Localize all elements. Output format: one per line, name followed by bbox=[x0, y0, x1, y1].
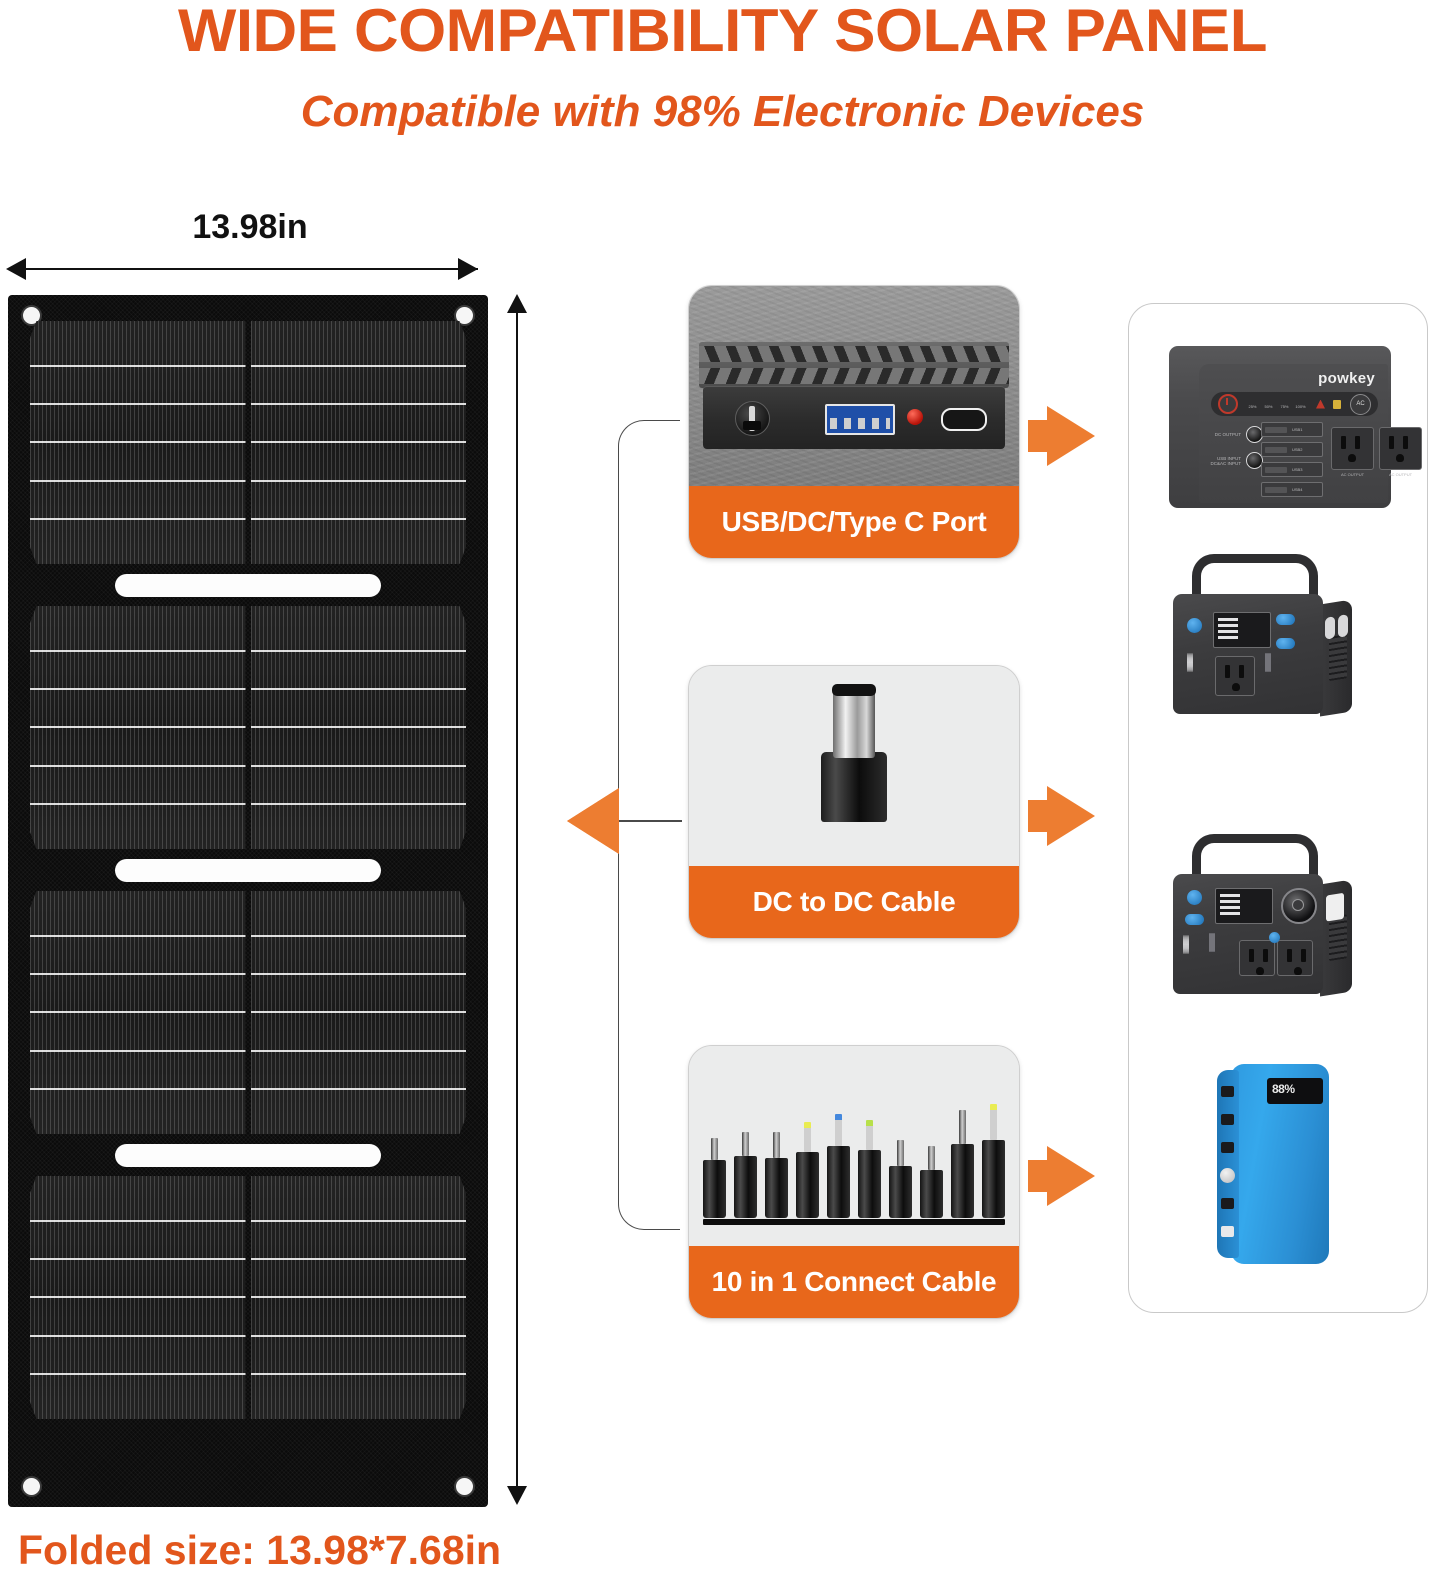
page-subtitle: Compatible with 98% Electronic Devices bbox=[0, 88, 1445, 136]
usb-port-icon: USB2 bbox=[1261, 442, 1323, 457]
adapter-tip bbox=[734, 1132, 757, 1218]
adapter-tip-body bbox=[982, 1140, 1005, 1218]
barrel-base bbox=[821, 752, 887, 822]
folded-size-label: Folded size: 13.98*7.68in bbox=[18, 1527, 501, 1574]
usb-port-icon: USB1 bbox=[1261, 422, 1323, 437]
solar-cell bbox=[251, 891, 467, 1134]
adapter-tip-body bbox=[827, 1146, 850, 1218]
port-photo bbox=[689, 286, 1019, 486]
busbar bbox=[251, 1220, 467, 1222]
handle-slot-wrap bbox=[30, 849, 466, 891]
device-side bbox=[1320, 599, 1352, 716]
solar-cell bbox=[30, 606, 246, 849]
solar-cell bbox=[30, 321, 246, 564]
adapter-tip-body bbox=[951, 1144, 974, 1218]
busbar bbox=[251, 803, 467, 805]
battery-percent-label: 75% bbox=[1280, 404, 1288, 409]
card-dc-to-dc[interactable]: DC to DC Cable bbox=[688, 665, 1020, 939]
usb-port-block bbox=[1209, 934, 1233, 952]
adapter-tip-base bbox=[703, 1219, 1005, 1225]
battery-level-indicators: 25%50%75%100% bbox=[1247, 395, 1306, 413]
busbar-group bbox=[251, 321, 467, 564]
solar-panel-zone: 13.98in 30.71in Folded size: 13.98*7.68i… bbox=[0, 190, 600, 1350]
busbar bbox=[251, 1373, 467, 1375]
handle-slot-wrap bbox=[30, 1134, 466, 1176]
usb-port-icon: USB3 bbox=[1261, 462, 1323, 477]
card-label: DC to DC Cable bbox=[689, 866, 1019, 938]
adapter-tip bbox=[827, 1114, 850, 1218]
adapter-tip-pin bbox=[711, 1138, 718, 1160]
solar-cell bbox=[251, 321, 467, 564]
busbar bbox=[251, 1050, 467, 1052]
adapter-tip bbox=[951, 1110, 974, 1218]
arrow-right-tail bbox=[1028, 420, 1048, 452]
lcd-display bbox=[1215, 888, 1273, 924]
blue-button-icon[interactable] bbox=[1187, 890, 1202, 905]
outlet-label: AC OUTPUT bbox=[1380, 472, 1421, 477]
adapter-tip-pin bbox=[928, 1146, 935, 1170]
device-power-station-flat: powkey 25%50%75%100% AC DC OUTPUT USB IN… bbox=[1169, 346, 1391, 508]
brand-logo: powkey bbox=[1318, 370, 1375, 387]
ac-outlet-icon: AC OUTPUT bbox=[1379, 427, 1422, 470]
solar-cell bbox=[251, 1176, 467, 1419]
dc-jack-column bbox=[1183, 936, 1203, 954]
adapter-tip-body bbox=[765, 1158, 788, 1218]
width-dimension-line bbox=[12, 268, 478, 270]
busbar-group bbox=[30, 891, 246, 1134]
busbar bbox=[251, 726, 467, 728]
usb-pad bbox=[1265, 467, 1287, 473]
battery-percent-label: 100% bbox=[1295, 404, 1305, 409]
device-power-station-small bbox=[1165, 554, 1365, 724]
ac-outlet-icon: AC OUTPUT bbox=[1331, 427, 1374, 470]
port-housing bbox=[703, 386, 1005, 449]
adapter-tip-pin bbox=[742, 1132, 749, 1156]
feature-cards: USB/DC/Type C Port DC to DC Cable 10 in … bbox=[670, 285, 1030, 1345]
power-bank-side bbox=[1217, 1070, 1239, 1258]
led-light-icon bbox=[1221, 1226, 1234, 1237]
handle-slot bbox=[115, 1144, 381, 1167]
adapter-tip-pin bbox=[990, 1104, 997, 1140]
panel-texture bbox=[699, 342, 1009, 388]
usb-label: USB2 bbox=[1292, 447, 1302, 452]
busbar bbox=[30, 1296, 246, 1298]
device-front bbox=[1173, 594, 1323, 714]
solar-cell bbox=[251, 606, 467, 849]
usb-port-icon bbox=[1269, 653, 1271, 672]
ac-outlet-icon bbox=[1239, 940, 1275, 976]
adapter-tip-body bbox=[889, 1166, 912, 1218]
blue-button-icon[interactable] bbox=[1276, 614, 1295, 625]
adapter-tip bbox=[858, 1120, 881, 1218]
ac-outlet-icon bbox=[1277, 940, 1313, 976]
usb-label: USB1 bbox=[1292, 427, 1302, 432]
adapter-tip-body bbox=[858, 1150, 881, 1218]
busbar bbox=[30, 726, 246, 728]
adapter-tip-body bbox=[734, 1156, 757, 1218]
busbar bbox=[251, 765, 467, 767]
side-port-icon bbox=[1326, 893, 1344, 922]
usb-port-icon: USB4 bbox=[1261, 482, 1323, 497]
busbar-group bbox=[251, 606, 467, 849]
busbar bbox=[30, 1088, 246, 1090]
busbar-group bbox=[30, 606, 246, 849]
busbar bbox=[251, 365, 467, 367]
arrow-right-icon bbox=[1047, 406, 1095, 466]
busbar-group bbox=[30, 1176, 246, 1419]
arrow-down-icon bbox=[507, 1486, 527, 1505]
busbar bbox=[30, 518, 246, 520]
busbar bbox=[30, 441, 246, 443]
busbar bbox=[30, 973, 246, 975]
io-label: USB INPUT DC&AC INPUT bbox=[1207, 456, 1241, 466]
ac-outlet-icon bbox=[1215, 656, 1255, 696]
dc-jack-icon bbox=[1187, 935, 1189, 954]
solar-cell-row bbox=[30, 1176, 466, 1419]
handle-slot bbox=[115, 574, 381, 597]
busbar bbox=[251, 518, 467, 520]
busbar bbox=[251, 1296, 467, 1298]
busbar bbox=[251, 1088, 467, 1090]
adapter-tip-pin bbox=[959, 1110, 966, 1144]
led-indicator-icon bbox=[907, 409, 923, 425]
grommet-icon bbox=[21, 1476, 42, 1497]
blue-button-icon[interactable] bbox=[1185, 914, 1204, 925]
usb-label: USB3 bbox=[1292, 467, 1302, 472]
lcd-display bbox=[1213, 612, 1271, 648]
adapter-tip bbox=[765, 1132, 788, 1218]
device-power-station-large bbox=[1165, 834, 1375, 1004]
solar-panel bbox=[8, 295, 488, 1507]
device-face: powkey 25%50%75%100% AC DC OUTPUT USB IN… bbox=[1199, 364, 1388, 503]
busbar bbox=[30, 1011, 246, 1013]
busbar bbox=[30, 688, 246, 690]
adapter-tip bbox=[703, 1138, 726, 1218]
busbar bbox=[251, 935, 467, 937]
usb-pad bbox=[1265, 427, 1287, 433]
adapter-tips-photo bbox=[689, 1046, 1019, 1246]
device-front bbox=[1173, 874, 1323, 994]
usb-label: USB4 bbox=[1292, 487, 1302, 492]
adapter-tip-body bbox=[920, 1170, 943, 1218]
arrow-right-icon bbox=[458, 258, 478, 280]
page-title: WIDE COMPATIBILITY SOLAR PANEL bbox=[0, 0, 1445, 62]
lcd-segment bbox=[1220, 894, 1240, 916]
warning-icon bbox=[1316, 400, 1325, 409]
adapter-tip bbox=[796, 1122, 819, 1218]
adapter-tip-body bbox=[796, 1152, 819, 1218]
busbar bbox=[30, 1373, 246, 1375]
battery-level: 75% bbox=[1279, 395, 1290, 413]
usb-pad bbox=[1265, 487, 1287, 493]
busbar-group bbox=[251, 891, 467, 1134]
card-label: 10 in 1 Connect Cable bbox=[689, 1246, 1019, 1318]
device-side bbox=[1320, 879, 1352, 996]
adapter-tip-row bbox=[703, 1098, 1005, 1218]
solar-cell-row bbox=[30, 891, 466, 1134]
solar-cell bbox=[30, 1176, 246, 1419]
battery-level: 50% bbox=[1263, 395, 1274, 413]
arrow-right-tail bbox=[1028, 800, 1048, 832]
busbar bbox=[30, 803, 246, 805]
adapter-tip bbox=[920, 1146, 943, 1218]
arrow-right-icon bbox=[1047, 786, 1095, 846]
solar-cell bbox=[30, 891, 246, 1134]
busbar bbox=[251, 973, 467, 975]
busbar-group bbox=[30, 321, 246, 564]
type-c-port-icon bbox=[941, 408, 987, 431]
handle-slot bbox=[115, 859, 381, 882]
lcd-segment bbox=[1218, 618, 1238, 640]
barrel-tip bbox=[832, 684, 876, 696]
dc-port-icon bbox=[1221, 1142, 1234, 1153]
side-port-icon bbox=[1325, 616, 1335, 640]
blue-button-icon[interactable] bbox=[1269, 932, 1280, 943]
panel-width-label: 13.98in bbox=[100, 208, 400, 247]
busbar bbox=[251, 441, 467, 443]
outlet-label: AC OUTPUT bbox=[1332, 472, 1373, 477]
barrel-shaft bbox=[833, 688, 875, 758]
adapter-tip-pin bbox=[866, 1120, 873, 1150]
card-label: USB/DC/Type C Port bbox=[689, 486, 1019, 558]
busbar bbox=[30, 650, 246, 652]
busbar bbox=[251, 1335, 467, 1337]
power-bank-body: 88% bbox=[1231, 1064, 1329, 1264]
arrow-up-icon bbox=[507, 294, 527, 313]
handle-slot-wrap bbox=[30, 564, 466, 606]
dc-cable-photo bbox=[689, 666, 1019, 866]
usb-port-icon bbox=[1221, 1114, 1234, 1125]
blue-button-icon[interactable] bbox=[1187, 618, 1202, 633]
battery-level: 100% bbox=[1295, 395, 1306, 413]
side-port-icon bbox=[1338, 614, 1348, 638]
busbar bbox=[251, 403, 467, 405]
card-ten-in-one[interactable]: 10 in 1 Connect Cable bbox=[688, 1045, 1020, 1319]
busbar bbox=[30, 935, 246, 937]
vent-icon bbox=[1329, 634, 1347, 681]
usb-a-port-icon bbox=[825, 404, 895, 435]
arrow-right-tail bbox=[1028, 1160, 1048, 1192]
card-usb-dc-typec[interactable]: USB/DC/Type C Port bbox=[688, 285, 1020, 559]
io-label: DC OUTPUT bbox=[1207, 432, 1241, 437]
power-bank-display: 88% bbox=[1267, 1078, 1323, 1104]
busbar bbox=[30, 1220, 246, 1222]
busbar-group bbox=[251, 1176, 467, 1419]
dc-jack-icon bbox=[1191, 653, 1193, 672]
compatible-devices-panel: powkey 25%50%75%100% AC DC OUTPUT USB IN… bbox=[1128, 303, 1428, 1313]
busbar bbox=[30, 1335, 246, 1337]
usb-pad bbox=[1265, 447, 1287, 453]
usb-port-icon bbox=[1213, 933, 1215, 952]
blue-button-icon[interactable] bbox=[1276, 638, 1295, 649]
busbar bbox=[30, 365, 246, 367]
busbar bbox=[30, 403, 246, 405]
busbar bbox=[251, 688, 467, 690]
adapter-tip-pin bbox=[804, 1122, 811, 1152]
dc-jack-column bbox=[1187, 654, 1207, 672]
battery-level: 25% bbox=[1247, 395, 1258, 413]
adapter-tip-pin bbox=[773, 1132, 780, 1158]
solar-cell-row bbox=[30, 321, 466, 564]
arrow-right-icon bbox=[1047, 1146, 1095, 1206]
busbar bbox=[30, 480, 246, 482]
header: WIDE COMPATIBILITY SOLAR PANEL Compatibl… bbox=[0, 0, 1445, 160]
adapter-tip-pin bbox=[897, 1140, 904, 1166]
control-strip: 25%50%75%100% AC bbox=[1211, 392, 1378, 416]
charge-percent: 88% bbox=[1272, 1083, 1295, 1096]
adapter-tip-body bbox=[703, 1160, 726, 1218]
busbar bbox=[30, 765, 246, 767]
adapter-tip bbox=[889, 1140, 912, 1218]
usb-port-stack: USB1USB2USB3USB4 bbox=[1261, 422, 1323, 502]
vent-icon bbox=[1329, 914, 1347, 961]
power-button-icon[interactable] bbox=[1218, 394, 1238, 414]
ac-button[interactable]: AC bbox=[1350, 394, 1371, 415]
round-dc-input-icon bbox=[1281, 888, 1317, 924]
usb-port-icon bbox=[1221, 1198, 1234, 1209]
adapter-tip bbox=[982, 1104, 1005, 1218]
solar-cell-row bbox=[30, 606, 466, 849]
device-power-bank: 88% bbox=[1217, 1064, 1329, 1264]
dc-jack-icon bbox=[735, 401, 770, 436]
grommet-icon bbox=[454, 1476, 475, 1497]
arrow-left-icon bbox=[6, 258, 26, 280]
busbar bbox=[251, 1011, 467, 1013]
busbar bbox=[30, 1258, 246, 1260]
busbar bbox=[30, 1050, 246, 1052]
battery-percent-label: 25% bbox=[1248, 404, 1256, 409]
usb-port-icon bbox=[1221, 1086, 1234, 1097]
adapter-tip-pin bbox=[835, 1114, 842, 1146]
status-icon bbox=[1333, 400, 1341, 409]
height-dimension-line bbox=[516, 308, 518, 1503]
battery-percent-label: 50% bbox=[1264, 404, 1272, 409]
usb-port-block bbox=[1265, 654, 1289, 672]
busbar bbox=[251, 650, 467, 652]
busbar bbox=[251, 480, 467, 482]
arrow-left-icon bbox=[567, 788, 619, 854]
power-button-icon[interactable] bbox=[1220, 1168, 1235, 1183]
busbar bbox=[251, 1258, 467, 1260]
